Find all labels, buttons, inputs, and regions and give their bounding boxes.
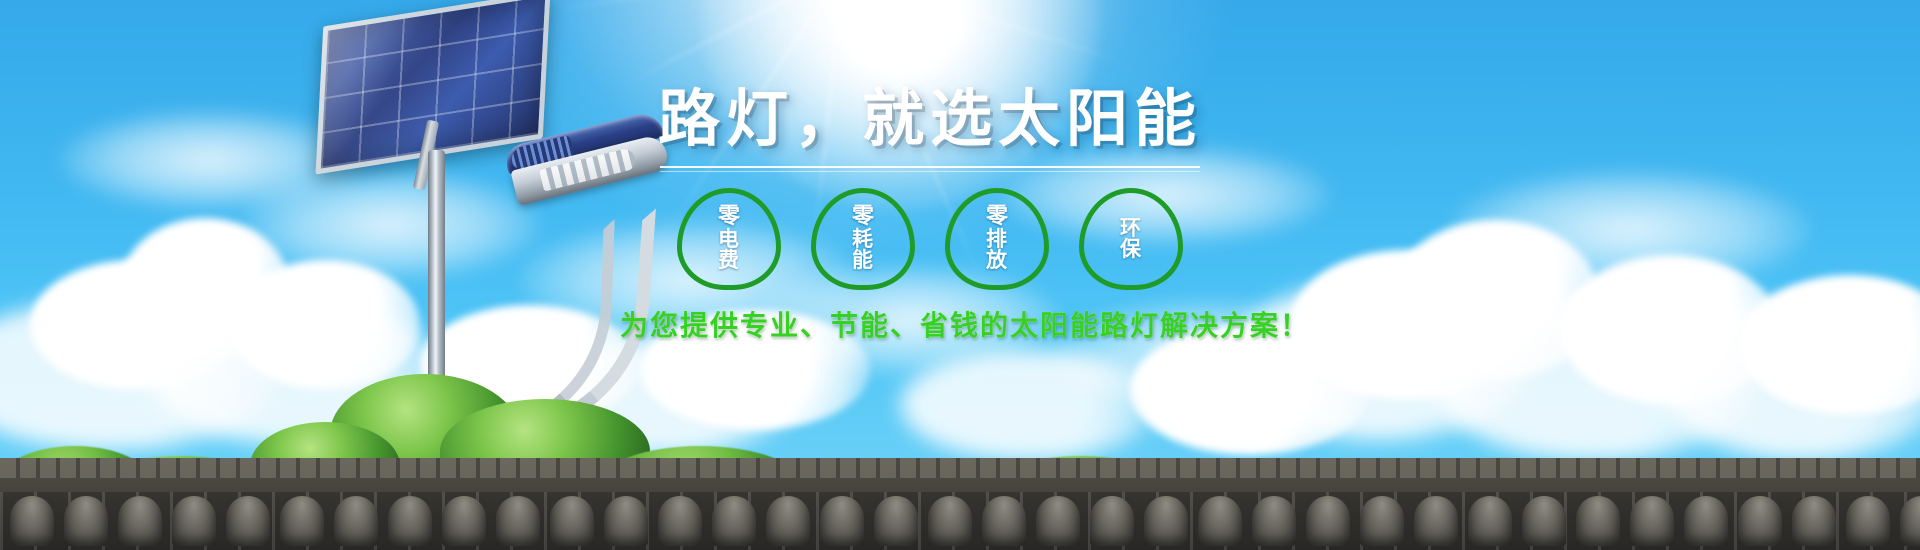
badge-prefix: 零 (986, 206, 1008, 228)
badge-char-1: 耗 (852, 229, 874, 250)
badge-label: 电 费 (718, 229, 740, 272)
feature-badge-list: 零 电 费 零 耗 能 (620, 188, 1240, 290)
badge-char-1: 电 (718, 229, 740, 250)
badge-prefix: 零 (718, 206, 740, 228)
badge-char-1: 环 (1120, 218, 1142, 239)
roof-tile-wall (0, 458, 1920, 550)
badge-label: 耗 能 (852, 229, 874, 272)
badge-char-2: 费 (718, 250, 740, 271)
feature-badge-0: 零 电 费 (677, 188, 781, 290)
badge-label: 排 放 (986, 229, 1008, 272)
badge-char-1: 排 (986, 229, 1008, 250)
banner-content: 路灯，就选太阳能 零 电 费 零 耗 (620, 88, 1240, 344)
banner-headline: 路灯，就选太阳能 (620, 88, 1240, 150)
headline-divider-secondary (660, 171, 1200, 172)
badge-char-2: 能 (852, 250, 874, 271)
feature-badge-2: 零 排 放 (945, 188, 1049, 290)
badge-char-2: 放 (986, 250, 1008, 271)
badge-label: 环 保 (1120, 218, 1142, 261)
feature-badge-1: 零 耗 能 (811, 188, 915, 290)
headline-divider (660, 166, 1200, 168)
badge-char-2: 保 (1120, 239, 1142, 260)
badge-prefix: 零 (852, 206, 874, 228)
banner-tagline: 为您提供专业、节能、省钱的太阳能路灯解决方案！ (620, 304, 1240, 344)
solar-streetlight-banner: 路灯，就选太阳能 零 电 费 零 耗 (0, 0, 1920, 550)
feature-badge-3: 环 保 (1079, 188, 1183, 290)
